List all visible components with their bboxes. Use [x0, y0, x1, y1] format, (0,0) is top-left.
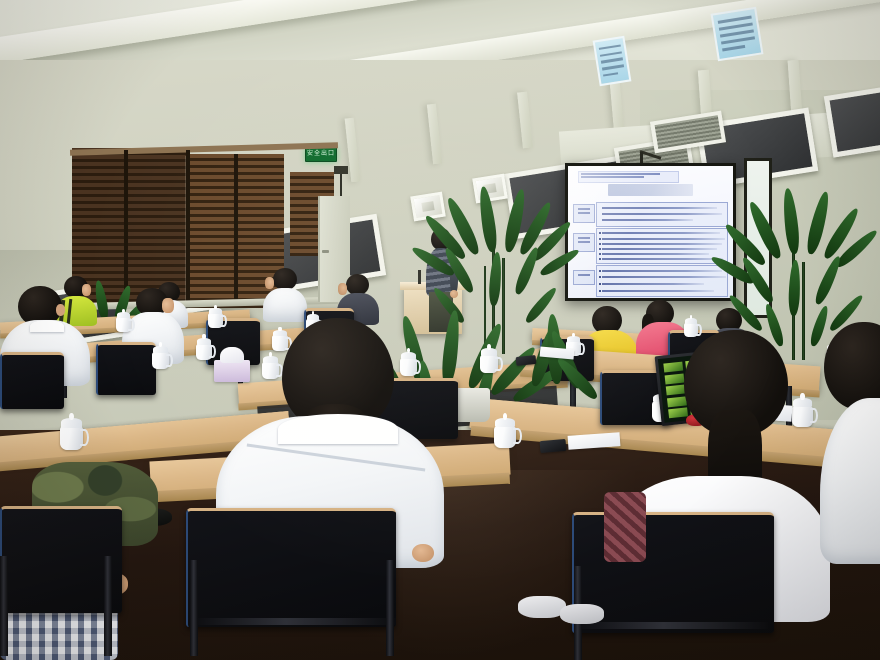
shoe	[518, 596, 566, 618]
slide-block-label-3	[573, 270, 595, 285]
chair-foreground-center[interactable]	[186, 508, 394, 624]
chair-frame-tube	[196, 618, 396, 625]
lectern-microphone-icon	[418, 270, 421, 284]
slide-line	[602, 232, 719, 234]
chair-foreground-left[interactable]	[0, 506, 120, 610]
chair-frame-tube	[578, 622, 768, 629]
attendee-face	[162, 298, 174, 313]
attendee-left-4	[262, 268, 308, 322]
slide-block-3	[596, 265, 728, 297]
tea-mug[interactable]	[494, 418, 516, 448]
attendee-head	[824, 322, 880, 410]
chair-frame-tube	[190, 560, 198, 656]
slide-title	[608, 184, 694, 196]
tea-mug[interactable]	[116, 312, 131, 332]
attendee-right-far	[820, 322, 880, 572]
slide-line	[602, 219, 693, 221]
slide-header	[578, 171, 679, 182]
slide-line	[602, 213, 722, 215]
slide-block-1	[596, 202, 728, 228]
slide-line	[602, 207, 717, 209]
slide-line	[602, 238, 725, 240]
slide-line	[602, 283, 704, 285]
slide-line	[602, 276, 726, 278]
slide-line	[602, 243, 722, 245]
attendee-torso	[820, 398, 880, 564]
tea-mug[interactable]	[196, 338, 212, 360]
exit-sign-label: 安全出口	[306, 148, 336, 161]
conference-room-photo: 安全出口	[0, 0, 880, 660]
slide-canvas	[568, 166, 733, 298]
door-handle-icon[interactable]	[322, 250, 329, 253]
attendee-head	[273, 268, 297, 290]
window-mullion	[234, 154, 238, 306]
chair-frame-tube	[104, 556, 112, 656]
slide-line	[602, 248, 717, 250]
mobile-phone[interactable]	[540, 439, 567, 453]
attendee-hand	[412, 544, 434, 562]
slide-line	[602, 258, 723, 260]
slide-line	[602, 253, 709, 255]
slide-block-2	[596, 228, 728, 264]
slide-line	[602, 270, 722, 272]
slide-block-label-1	[573, 204, 595, 223]
chair[interactable]	[0, 352, 62, 406]
chair[interactable]	[96, 342, 154, 392]
handbag	[604, 492, 646, 562]
slide-line	[602, 290, 714, 292]
tea-mug[interactable]	[152, 346, 169, 369]
shoe	[560, 604, 604, 624]
projector-mount	[334, 166, 348, 174]
attendee-face	[338, 283, 347, 295]
chair-frame-tube	[386, 560, 394, 656]
tea-mug[interactable]	[480, 348, 498, 373]
projection-screen	[565, 163, 736, 301]
attendee-head	[346, 274, 369, 295]
shirt-collar	[30, 320, 64, 332]
notice-poster	[711, 7, 764, 62]
exit-sign: 安全出口	[305, 147, 337, 162]
attendee-ear	[56, 304, 65, 316]
chair-frame-tube	[0, 556, 8, 656]
attendee-face	[265, 277, 274, 289]
shirt-collar	[278, 414, 398, 444]
attendee-torso	[263, 288, 307, 322]
